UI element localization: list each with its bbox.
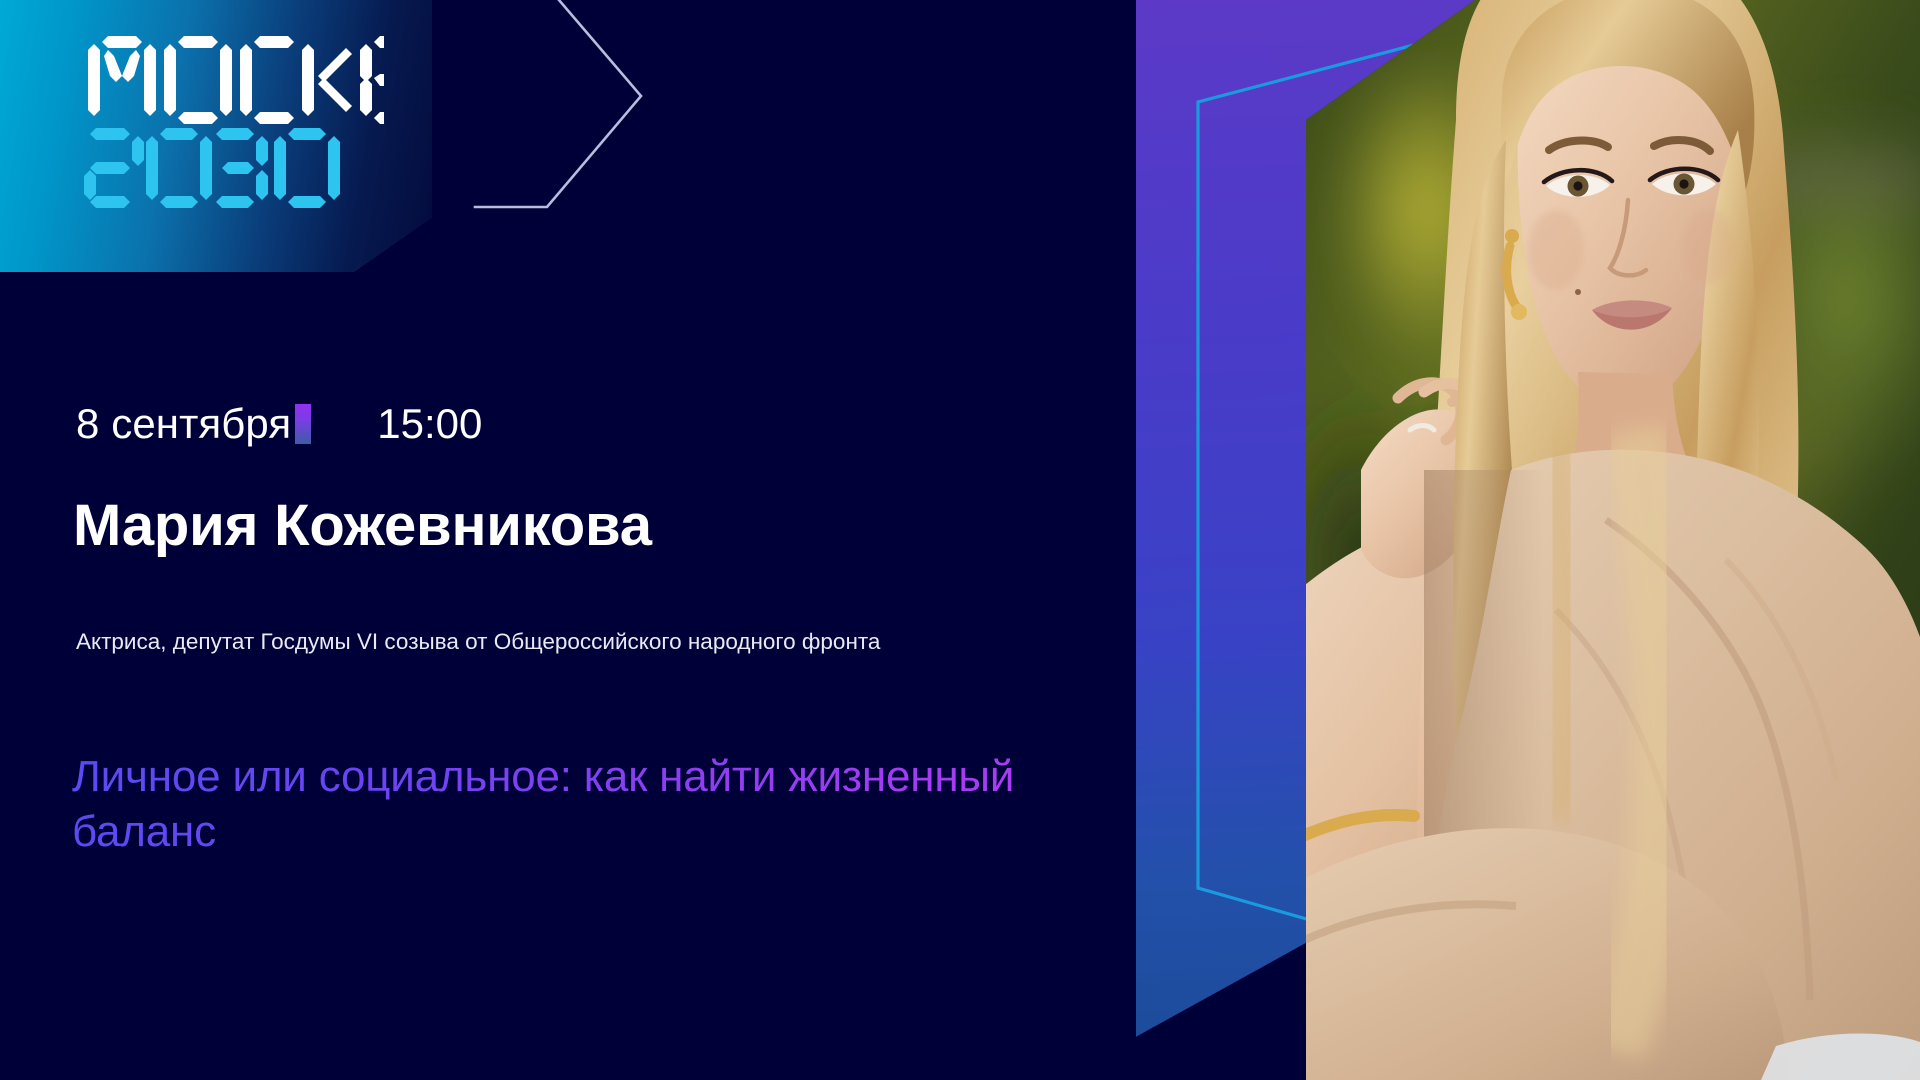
meta-separator-bar [295, 404, 311, 444]
event-meta-row: 8 сентября 15:00 [76, 396, 482, 452]
event-content: 8 сентября 15:00 Мария Кожевникова Актри… [76, 0, 1096, 1080]
speaker-photo [1306, 0, 1920, 1080]
speaker-role: Актриса, депутат Госдумы VI созыва от Об… [76, 627, 1086, 657]
session-topic: Личное или социальное: как найти жизненн… [72, 750, 1132, 859]
event-date: 8 сентября [76, 403, 291, 445]
poster-stage: 8 сентября 15:00 Мария Кожевникова Актри… [0, 0, 1920, 1080]
event-time: 15:00 [377, 403, 482, 445]
speaker-name: Мария Кожевникова [73, 495, 652, 558]
